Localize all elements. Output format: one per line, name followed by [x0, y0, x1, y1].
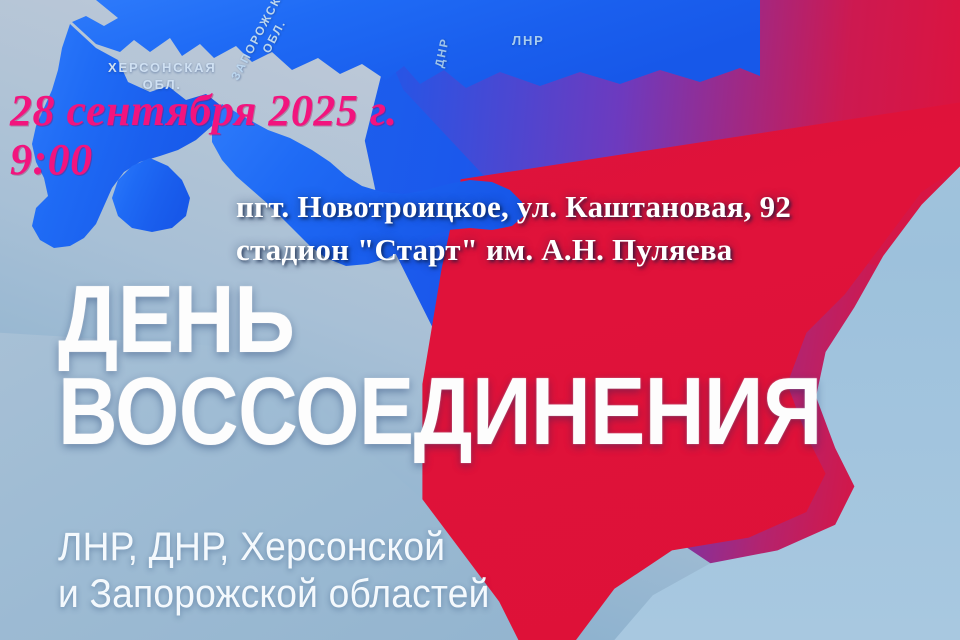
- event-datetime: 28 сентября 2025 г. 9:00: [10, 88, 398, 183]
- page-title-line1: ДЕНЬ: [58, 276, 840, 364]
- venue-address-line1: пгт. Новотроицкое, ул. Каштановая, 92: [236, 186, 791, 229]
- page-title: ДЕНЬ ВОССОЕДИНЕНИЯ: [58, 276, 946, 457]
- poster-canvas: ХЕРСОНСКАЯ ОБЛ. ЗАПОРОЖСКАЯ ОБЛ. ДНР ЛНР…: [0, 0, 960, 640]
- page-subtitle-line2: и Запорожской областей: [58, 571, 490, 618]
- page-subtitle: ЛНР, ДНР, Херсонской и Запорожской облас…: [58, 524, 522, 618]
- page-subtitle-line1: ЛНР, ДНР, Херсонской: [58, 524, 490, 571]
- page-title-line2: ВОССОЕДИНЕНИЯ: [58, 368, 822, 456]
- venue-address: пгт. Новотроицкое, ул. Каштановая, 92 ст…: [236, 186, 791, 272]
- event-time: 9:00: [10, 137, 398, 184]
- map-label-kherson-line1: ХЕРСОНСКАЯ: [108, 60, 217, 75]
- venue-address-line2: стадион "Старт" им. А.Н. Пуляева: [236, 229, 791, 272]
- map-label-lnr: ЛНР: [512, 33, 545, 48]
- event-date: 28 сентября 2025 г.: [10, 86, 398, 135]
